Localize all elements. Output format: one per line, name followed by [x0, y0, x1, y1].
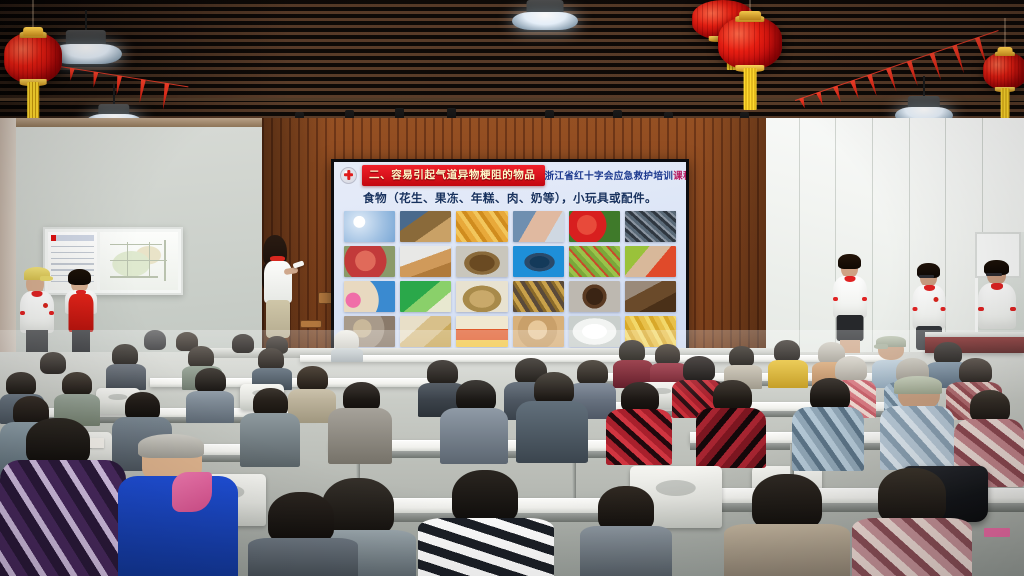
notice-text-line	[51, 252, 94, 253]
white-polo	[978, 283, 1016, 329]
lantern-body	[983, 52, 1024, 90]
wall-left-trim	[0, 118, 268, 127]
slide-photo-grid	[334, 211, 686, 347]
lantern-tassel	[1001, 88, 1010, 118]
slide-photo-ice-cubes-nuts	[625, 211, 676, 242]
audience-member-foreground	[248, 492, 358, 576]
lantern-body	[4, 32, 62, 84]
polo-red-collar	[32, 291, 43, 297]
presenter-arm	[284, 267, 299, 275]
torso	[880, 406, 954, 470]
polo-sleeve-trim	[941, 307, 946, 311]
red-cross-emblem-icon	[934, 297, 939, 302]
white-polo	[20, 291, 54, 333]
slide-photo-green-beans-chopsticks	[400, 281, 451, 312]
head	[729, 346, 754, 367]
audience-member	[186, 368, 234, 422]
cap-brim	[40, 276, 53, 281]
slide-photo-hand-holding-chili	[625, 246, 676, 277]
torso	[516, 401, 588, 463]
screenshot-root: 二、容易引起气道异物梗阻的物品 浙江省红十字会应急救护培训课程 食物（花生、果冻…	[0, 0, 1024, 576]
audience-member-white-hair	[330, 330, 364, 360]
slide-photo-blue-fish-dish	[513, 246, 564, 277]
audience-member	[106, 344, 146, 388]
torso	[106, 364, 146, 390]
white-polo	[833, 276, 867, 318]
map-line	[164, 240, 166, 281]
slide-photo-dumplings-basket	[456, 281, 507, 312]
torso-striped	[418, 518, 554, 576]
torso	[328, 408, 392, 464]
slide-photo-fried-spring-rolls	[400, 316, 451, 347]
notice-text-line	[51, 258, 94, 259]
notice-evacuation-map	[100, 232, 178, 290]
cap-brim	[874, 344, 888, 349]
slide-photo-popcorn-bucket	[456, 316, 507, 347]
torso	[248, 538, 358, 576]
slide-photo-candy-jars	[344, 211, 395, 242]
audience-member	[328, 382, 392, 462]
slide-content: 二、容易引起气道异物梗阻的物品 浙江省红十字会应急救护培训课程 食物（花生、果冻…	[334, 162, 686, 348]
head	[6, 372, 36, 396]
polo-sleeve-trim	[978, 307, 984, 311]
audience-member	[792, 378, 864, 470]
pink-handout[interactable]	[984, 528, 1010, 537]
glasses-icon	[986, 273, 1002, 276]
polo-red-collar	[924, 285, 935, 291]
head	[268, 492, 334, 544]
notice-header-bar	[51, 235, 94, 241]
head	[112, 344, 138, 366]
slide-photo-meatball-soup-bowl	[513, 316, 564, 347]
slide-photo-grilled-meat-platter	[513, 281, 564, 312]
audience-member-foreground	[580, 486, 672, 576]
notice-text-line	[51, 246, 94, 247]
presenter-instructor	[256, 236, 300, 348]
led-projection-screen[interactable]: 二、容易引起气道异物梗阻的物品 浙江省红十字会应急救护培训课程 食物（花生、果冻…	[331, 159, 689, 351]
light-dome	[512, 12, 578, 30]
volunteer-red-vest	[60, 264, 102, 352]
lantern-cap	[998, 47, 1013, 56]
trousers	[72, 330, 90, 352]
slide-photo-peanut-brittle	[400, 246, 451, 277]
torso	[724, 524, 850, 576]
slide-photo-green-peppers-grapes	[569, 246, 620, 277]
slide-header: 二、容易引起气道异物梗阻的物品 浙江省红十字会应急救护培训课程	[334, 162, 686, 188]
audience-member	[516, 372, 588, 462]
light-stem	[85, 10, 87, 30]
map-line	[110, 276, 158, 278]
polo-red-collar	[845, 276, 856, 282]
red-cross-icon	[340, 167, 357, 184]
hair-gray	[138, 434, 204, 458]
slide-photo-baby-eating	[513, 211, 564, 242]
slide-photo-fried-chicken-nuggets	[456, 211, 507, 242]
lantern-body	[718, 16, 782, 70]
audience-member-foreground	[724, 474, 850, 576]
volunteer-standing-1	[828, 253, 872, 353]
wall-seam	[872, 118, 873, 370]
light-stem	[923, 76, 925, 96]
slide-subtitle: 食物（花生、果冻、年糕、肉、奶等），小玩具或配件。	[334, 190, 686, 206]
polo-sleeve-trim	[913, 307, 918, 311]
lantern-cap	[739, 11, 761, 20]
slide-photo-nuts-on-plate	[456, 246, 507, 277]
map-line	[127, 242, 129, 278]
torso	[331, 348, 363, 362]
presenter-skirt	[266, 300, 290, 338]
head	[40, 352, 66, 374]
volunteer-yellow-cap	[14, 264, 60, 350]
lantern-cap	[23, 27, 43, 36]
slide-course-header: 浙江省红十字会应急救护培训课程	[545, 168, 687, 182]
audience-member	[440, 380, 508, 462]
audience-member	[606, 382, 672, 464]
map-line	[110, 244, 163, 246]
red-cross-emblem-icon	[43, 303, 48, 308]
audience-member-striped-shirt	[418, 470, 554, 576]
torso	[240, 413, 300, 467]
slide-photo-lychee-fruit	[344, 246, 395, 277]
torso-floral	[852, 518, 972, 576]
head	[774, 340, 800, 362]
lantern-left-1	[4, 32, 62, 84]
course-header-highlight: 课程	[673, 171, 686, 182]
audience-member	[696, 380, 766, 466]
head	[878, 468, 946, 524]
lantern-far-right	[983, 52, 1024, 90]
ceiling-beam	[0, 98, 1024, 101]
slide-photo-meat-skewers-grill	[400, 211, 451, 242]
white-polo	[913, 285, 946, 329]
head	[26, 418, 90, 466]
hair	[68, 269, 91, 285]
torso	[580, 526, 672, 576]
lantern-right-2	[718, 16, 782, 70]
wall-seam	[799, 118, 800, 370]
head	[62, 372, 92, 396]
map-line	[110, 260, 167, 262]
audience-member-foreground-blue	[118, 436, 238, 576]
slide-section-title: 二、容易引起气道异物梗阻的物品	[362, 165, 545, 186]
lantern-tassel	[744, 68, 757, 110]
torso-purple-floral	[0, 460, 126, 576]
audience-member	[613, 340, 653, 388]
lantern-tassel	[27, 82, 39, 123]
torso-red-pattern	[696, 408, 766, 468]
audience-member	[252, 348, 292, 388]
map-line	[149, 242, 151, 278]
polo-sleeve-trim	[862, 297, 867, 301]
head	[297, 366, 328, 391]
glasses-icon	[919, 275, 934, 278]
head	[959, 358, 992, 384]
polo-red-collar	[991, 283, 1003, 290]
head	[258, 348, 284, 370]
beige-cap-icon	[894, 376, 942, 394]
polo-sleeve-trim	[1010, 307, 1016, 311]
head	[452, 470, 518, 524]
hair	[838, 254, 861, 269]
black-shorts	[837, 315, 864, 341]
trousers	[26, 330, 48, 352]
highbay-light-3	[512, 0, 578, 30]
head	[195, 368, 226, 393]
torso-red-pattern	[606, 409, 672, 465]
audience-member	[240, 388, 300, 466]
polo-sleeve-trim	[49, 311, 54, 315]
head	[683, 356, 715, 382]
pink-scarf	[172, 472, 212, 512]
head	[232, 334, 254, 353]
torso	[186, 391, 234, 423]
course-header-text: 浙江省红十字会应急救护培训	[545, 171, 674, 182]
presenter-white-top	[264, 261, 292, 303]
audience-member-foreground-purple	[0, 418, 126, 576]
head	[619, 340, 645, 362]
audience-member-foreground	[852, 468, 972, 576]
slide-photo-nuts-candy-tray	[344, 281, 395, 312]
audience-member	[880, 376, 954, 470]
slide-photo-sesame-snack-board	[625, 281, 676, 312]
torso	[440, 408, 508, 464]
head	[188, 346, 214, 368]
stage-shadow-right	[700, 118, 766, 360]
head	[144, 330, 166, 350]
wall-outlet[interactable]	[300, 320, 322, 328]
polo-sleeve-trim	[20, 311, 25, 315]
slide-photo-chocolate-cookie	[569, 281, 620, 312]
head	[752, 474, 822, 530]
slide-photo-cherry-tomatoes	[569, 211, 620, 242]
red-volunteer-vest	[69, 294, 94, 332]
torso	[792, 407, 864, 471]
light-stem	[113, 84, 115, 104]
polo-sleeve-trim	[833, 297, 838, 301]
